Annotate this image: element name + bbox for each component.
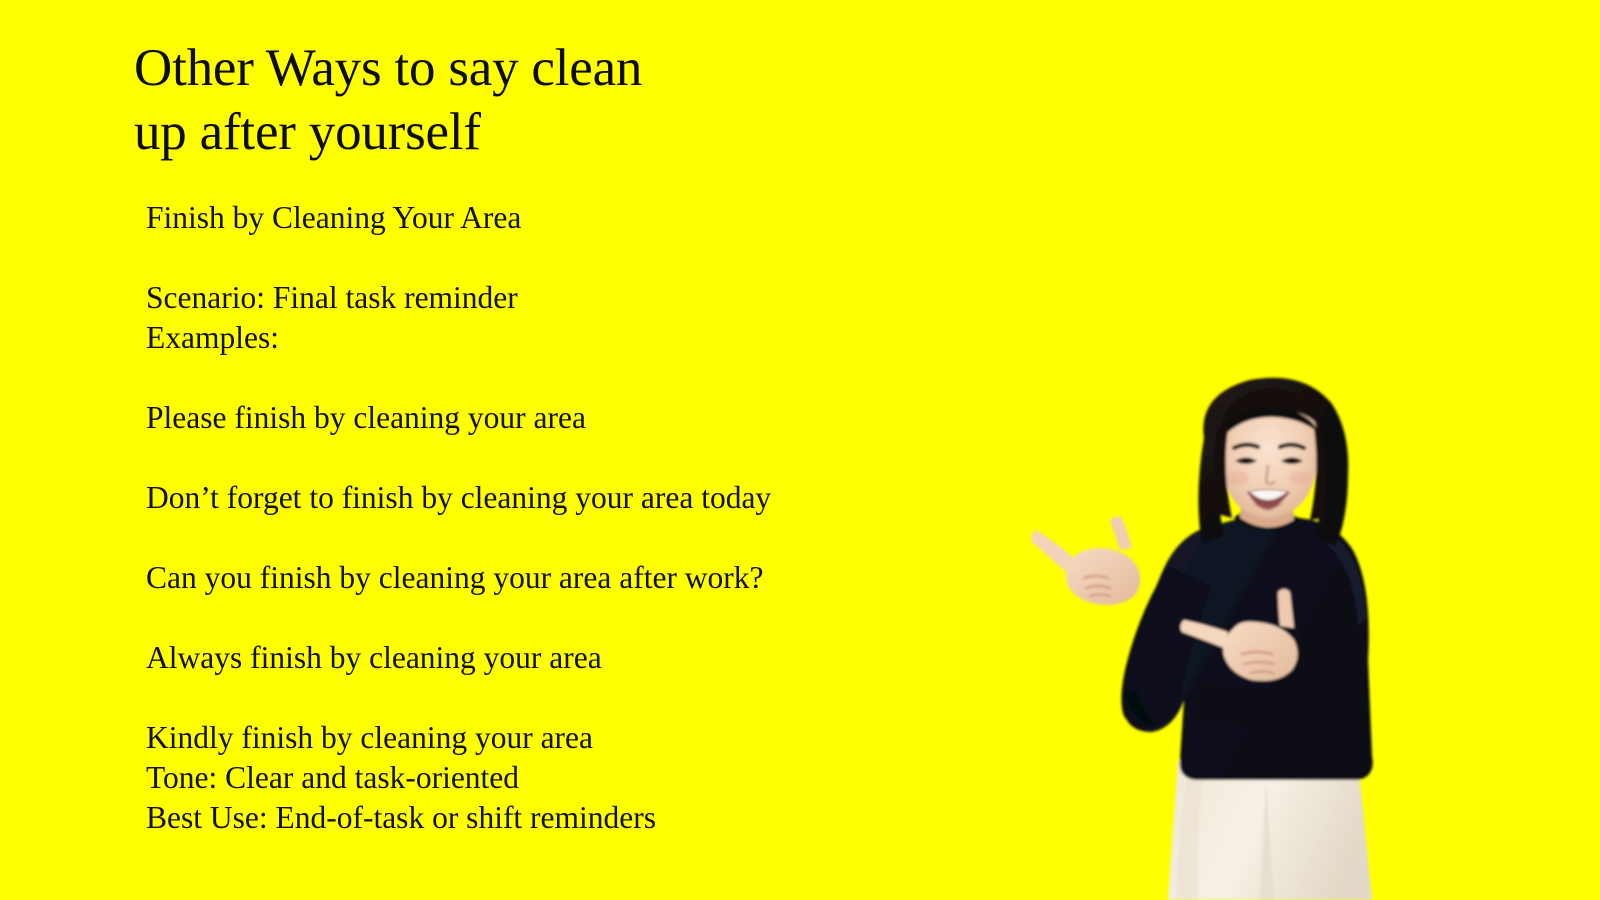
tone-line: Tone: Clear and task-oriented xyxy=(146,758,1026,798)
best-use-line: Best Use: End-of-task or shift reminders xyxy=(146,798,1026,838)
examples-label: Examples: xyxy=(146,318,1026,358)
slide-canvas: Other Ways to say clean up after yoursel… xyxy=(0,0,1600,900)
example-line: Always finish by cleaning your area xyxy=(146,638,1026,678)
scenario-line: Scenario: Final task reminder xyxy=(146,278,1026,318)
spacer xyxy=(146,518,1026,558)
spacer xyxy=(146,438,1026,478)
person-pointing-photo xyxy=(1028,360,1458,900)
example-line: Kindly finish by cleaning your area xyxy=(146,718,1026,758)
spacer xyxy=(146,238,1026,278)
page-title: Other Ways to say clean up after yoursel… xyxy=(134,36,894,164)
spacer xyxy=(146,678,1026,718)
heading-line: Finish by Cleaning Your Area xyxy=(146,198,1026,238)
spacer xyxy=(146,598,1026,638)
example-line: Please finish by cleaning your area xyxy=(146,398,1026,438)
body-text-block: Finish by Cleaning Your Area Scenario: F… xyxy=(146,198,1026,838)
spacer xyxy=(146,358,1026,398)
example-line: Can you finish by cleaning your area aft… xyxy=(146,558,1026,598)
example-line: Don’t forget to finish by cleaning your … xyxy=(146,478,1026,518)
